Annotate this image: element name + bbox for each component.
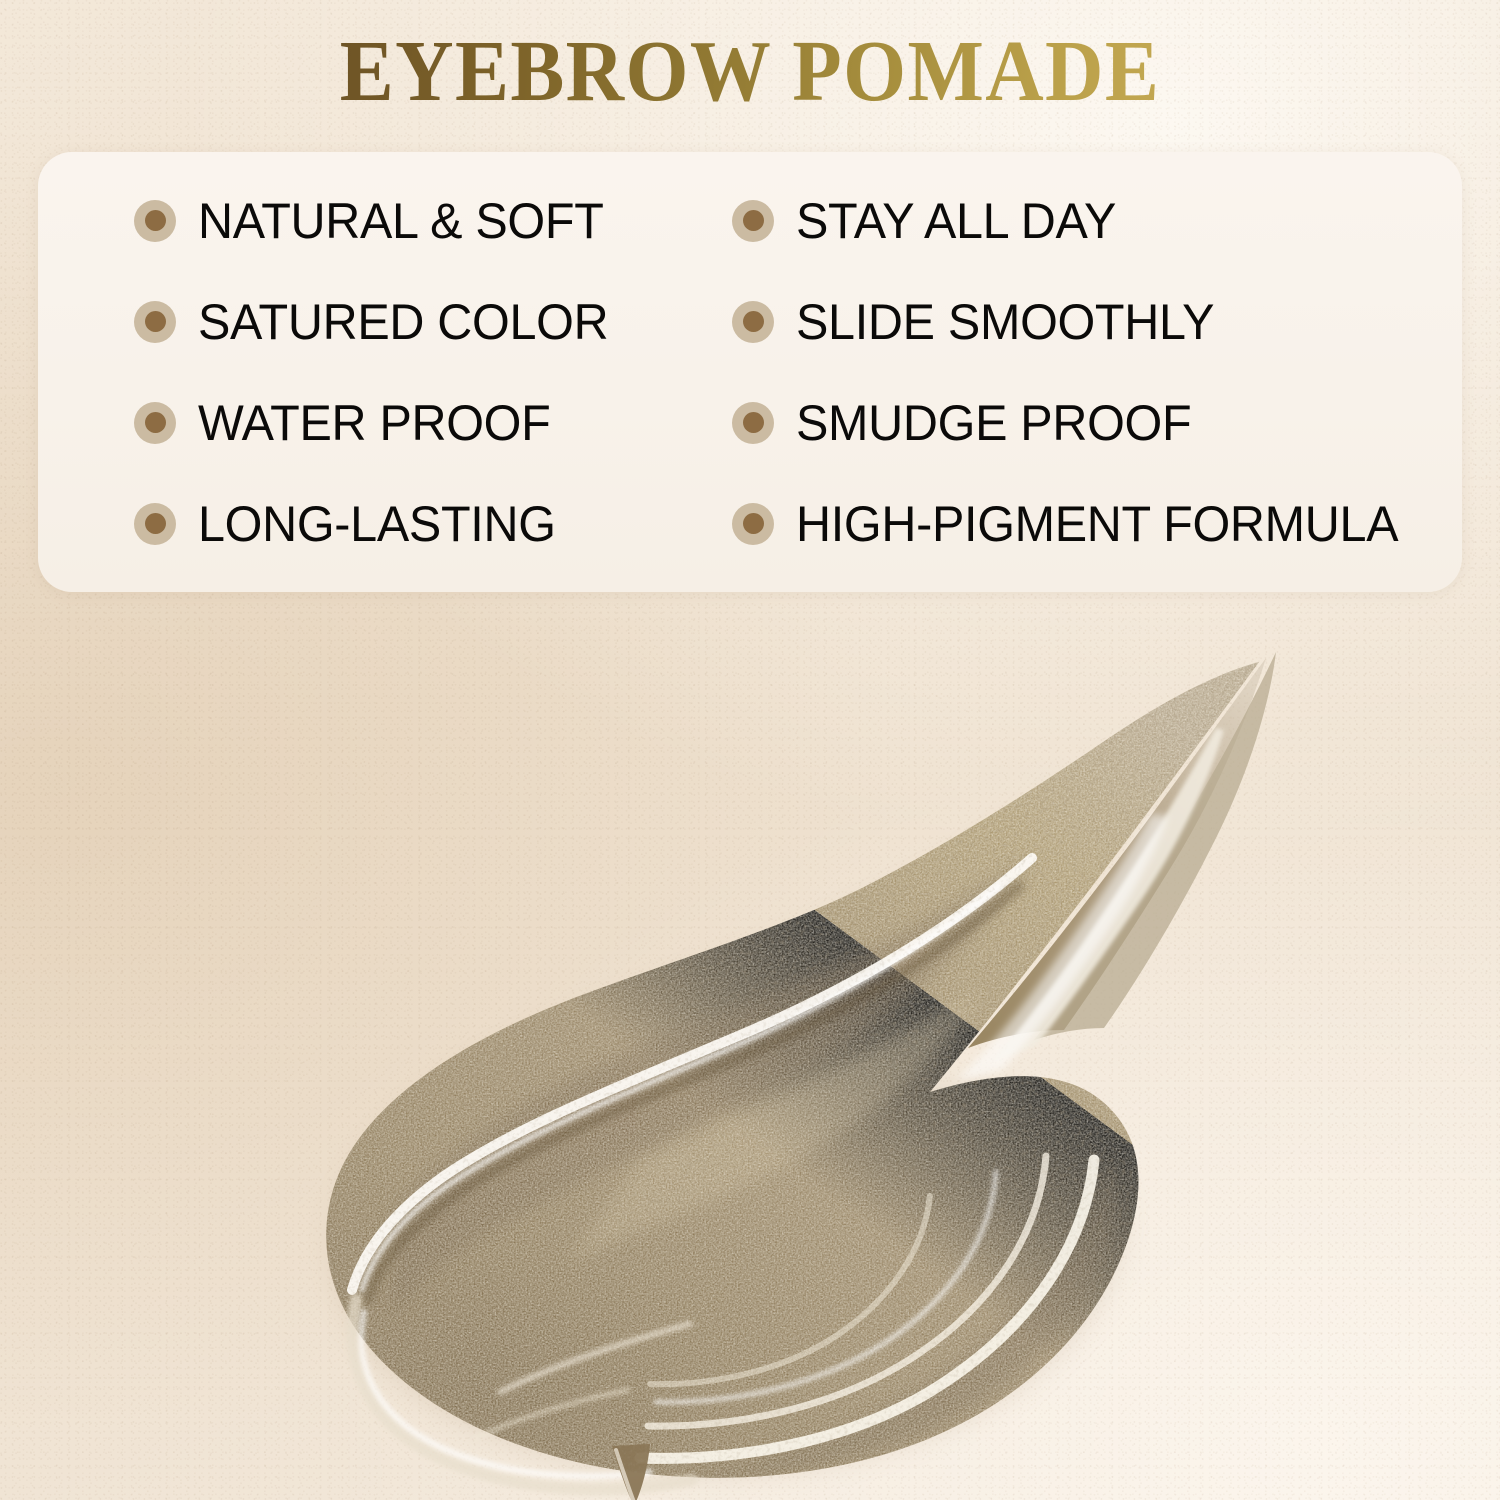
bullet-dot-icon — [134, 503, 176, 545]
swatch-edge-grain — [280, 620, 1300, 1500]
product-swatch-image — [0, 600, 1500, 1500]
page-title: EYEBROW POMADE — [53, 27, 1448, 116]
feature-item-water-proof: WATER PROOF — [134, 394, 732, 452]
bullet-dot-icon — [134, 301, 176, 343]
feature-label: HIGH-PIGMENT FORMULA — [796, 495, 1398, 553]
bullet-dot-icon — [732, 200, 774, 242]
feature-label: STAY ALL DAY — [796, 192, 1116, 250]
feature-item-slide-smoothly: SLIDE SMOOTHLY — [732, 293, 1462, 351]
bullet-dot-icon — [134, 402, 176, 444]
feature-label: LONG-LASTING — [198, 495, 556, 553]
feature-label: WATER PROOF — [198, 394, 550, 452]
bullet-dot-icon — [732, 301, 774, 343]
feature-label: SATURED COLOR — [198, 293, 608, 351]
bullet-dot-icon — [732, 402, 774, 444]
feature-label: SLIDE SMOOTHLY — [796, 293, 1214, 351]
feature-label: NATURAL & SOFT — [198, 192, 604, 250]
bullet-dot-icon — [134, 200, 176, 242]
feature-item-natural-soft: NATURAL & SOFT — [134, 192, 732, 250]
feature-item-stay-all-day: STAY ALL DAY — [732, 192, 1462, 250]
bullet-dot-icon — [732, 503, 774, 545]
feature-item-long-lasting: LONG-LASTING — [134, 495, 732, 553]
features-card: NATURAL & SOFT STAY ALL DAY SATURED COLO… — [38, 152, 1462, 592]
feature-label: SMUDGE PROOF — [796, 394, 1191, 452]
feature-item-satured-color: SATURED COLOR — [134, 293, 732, 351]
pomade-swatch-smear — [0, 600, 1500, 1500]
features-grid: NATURAL & SOFT STAY ALL DAY SATURED COLO… — [38, 152, 1462, 592]
feature-item-high-pigment-formula: HIGH-PIGMENT FORMULA — [732, 495, 1462, 553]
feature-item-smudge-proof: SMUDGE PROOF — [732, 394, 1462, 452]
